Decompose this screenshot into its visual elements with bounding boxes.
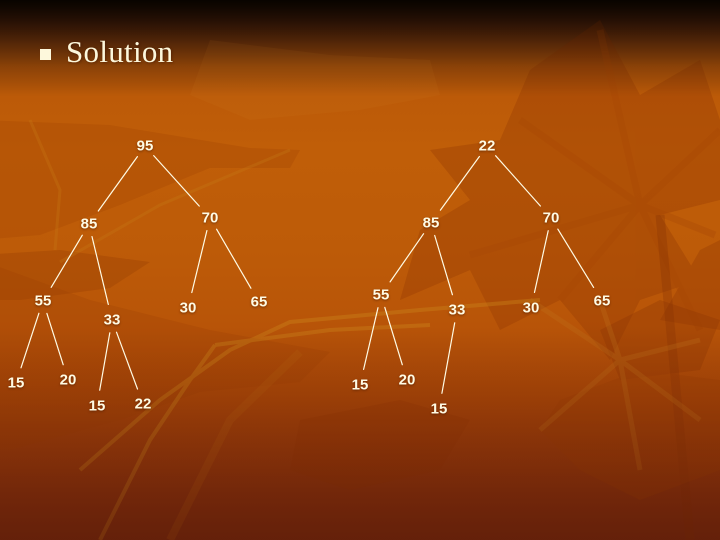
tree-node-30: 30 xyxy=(523,301,540,316)
slide-canvas: Solution 9585705533306515201522228570553… xyxy=(0,0,720,540)
slide-background-leaf-motif xyxy=(0,0,720,540)
tree-node-85: 85 xyxy=(423,216,440,231)
tree-node-30: 30 xyxy=(180,301,197,316)
tree-node-33: 33 xyxy=(104,313,121,328)
tree-node-15: 15 xyxy=(352,378,369,393)
tree-node-20: 20 xyxy=(399,373,416,388)
page-title: Solution xyxy=(66,36,173,67)
tree-node-33: 33 xyxy=(449,303,466,318)
tree-node-95: 95 xyxy=(137,139,154,154)
tree-node-55: 55 xyxy=(373,288,390,303)
tree-node-70: 70 xyxy=(202,211,219,226)
slide-title-row: Solution xyxy=(40,36,173,67)
tree-node-15: 15 xyxy=(8,376,25,391)
tree-node-15: 15 xyxy=(431,402,448,417)
tree-node-22: 22 xyxy=(479,139,496,154)
tree-node-15: 15 xyxy=(89,399,106,414)
tree-node-20: 20 xyxy=(60,373,77,388)
tree-node-55: 55 xyxy=(35,294,52,309)
tree-node-85: 85 xyxy=(81,217,98,232)
tree-node-65: 65 xyxy=(251,295,268,310)
tree-node-22: 22 xyxy=(135,397,152,412)
square-bullet-icon xyxy=(40,49,51,60)
tree-node-70: 70 xyxy=(543,211,560,226)
tree-node-65: 65 xyxy=(594,294,611,309)
